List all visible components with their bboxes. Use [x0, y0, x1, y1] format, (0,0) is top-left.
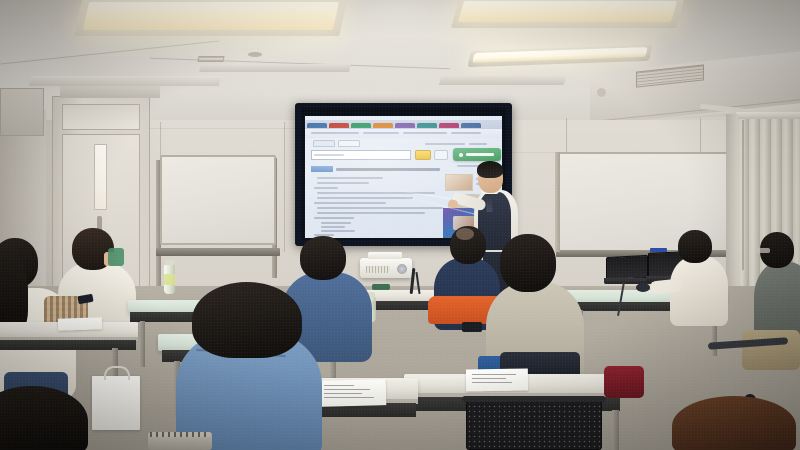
- handout-text-line: [324, 393, 362, 394]
- eyeglasses-icon: [756, 248, 770, 253]
- bottle-label: [164, 274, 175, 285]
- handout-text-line: [324, 385, 354, 386]
- audience-head: [672, 396, 796, 450]
- chair-frame: [462, 396, 606, 402]
- projector-vent: [366, 266, 390, 273]
- smoke-detector-icon: [248, 52, 262, 57]
- whiteboard-frame-left: [555, 152, 560, 252]
- wall-sign: [0, 88, 44, 136]
- audience-head: [300, 236, 346, 280]
- ceiling-light-panel: [458, 1, 677, 22]
- blinds-headrail: [736, 112, 800, 119]
- tote-handle: [104, 366, 130, 380]
- whiteboard-left[interactable]: [160, 155, 276, 245]
- phone-on-table[interactable]: [462, 322, 482, 332]
- notebook-spiral-icon: [150, 432, 210, 437]
- door-vision-panel: [94, 144, 107, 210]
- whiteboard-tray: [156, 248, 280, 256]
- handout-text-line: [472, 374, 516, 375]
- audience-bald-highlight: [456, 228, 474, 240]
- projector-lens: [397, 264, 407, 274]
- window-reveal: [726, 114, 738, 286]
- blinds-chain[interactable]: [742, 120, 744, 270]
- table-item-green: [372, 284, 390, 290]
- white-tote-bag[interactable]: [92, 376, 140, 430]
- projected-web-page: [305, 116, 502, 238]
- screen-glare: [305, 116, 502, 238]
- handout-paper[interactable]: [58, 317, 102, 331]
- projector-top: [368, 252, 402, 259]
- sprinkler-icon: [597, 88, 606, 97]
- ceiling-strip: [29, 76, 221, 86]
- classroom-presentation-photo: Presenter in dark vest pointing at a pro…: [0, 0, 800, 450]
- mouse[interactable]: [636, 283, 650, 292]
- presenter-hand: [449, 200, 458, 208]
- audience-green-top: [108, 248, 124, 266]
- table-leg: [140, 321, 145, 367]
- wall-panel-seam: [284, 122, 285, 252]
- handout-text-line: [472, 378, 506, 379]
- wall-trim-line: [150, 128, 310, 129]
- ceiling-strip: [439, 76, 567, 85]
- audience-head: [500, 234, 556, 292]
- ceiling-strip: [199, 64, 351, 72]
- door-plate: [60, 86, 160, 98]
- ceiling-light-panel: [83, 2, 339, 30]
- red-bag[interactable]: [604, 366, 644, 398]
- table-leg: [612, 410, 619, 450]
- audience-head: [678, 230, 712, 263]
- bottle-cap: [165, 260, 174, 265]
- chair-mesh-back[interactable]: [466, 398, 602, 450]
- handout-text-line: [324, 389, 370, 390]
- door-transom-glass: [62, 104, 140, 130]
- audience-trousers: [742, 330, 800, 370]
- handout-text-line: [472, 382, 512, 383]
- handout-paper[interactable]: [466, 368, 528, 391]
- presenter-hair: [477, 161, 503, 178]
- laptop-screen[interactable]: [606, 255, 648, 280]
- ceiling-air-vent: [197, 56, 224, 62]
- handout-text-line: [324, 397, 374, 398]
- audience-head: [192, 282, 302, 358]
